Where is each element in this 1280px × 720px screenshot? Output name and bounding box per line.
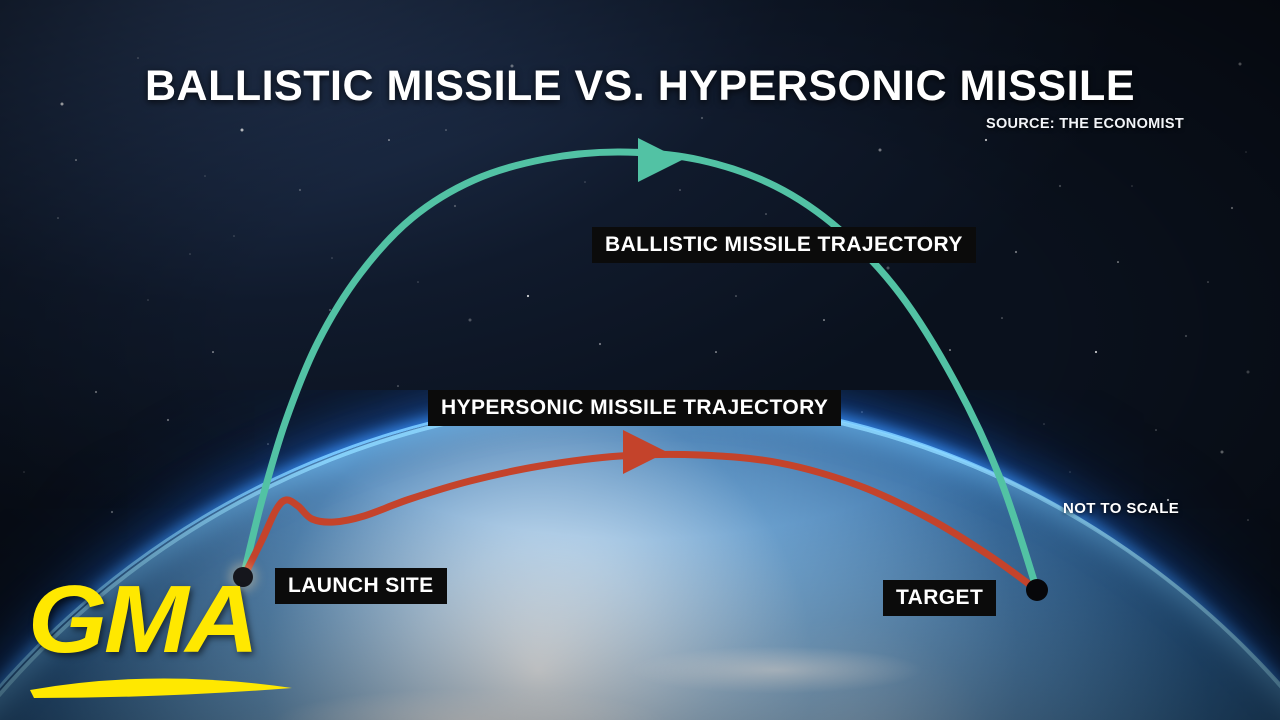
gma-logo-swoosh <box>24 572 324 702</box>
label-target: TARGET <box>883 580 996 616</box>
label-hypersonic-trajectory: HYPERSONIC MISSILE TRAJECTORY <box>428 390 841 426</box>
infographic-stage: BALLISTIC MISSILE VS. HYPERSONIC MISSILE… <box>0 0 1280 720</box>
gma-logo: GMA <box>24 572 324 702</box>
target-marker <box>1026 579 1048 601</box>
page-title: BALLISTIC MISSILE VS. HYPERSONIC MISSILE <box>0 62 1280 111</box>
source-credit: SOURCE: THE ECONOMIST <box>986 116 1184 132</box>
trajectory-arrowhead <box>623 430 667 474</box>
trajectory-arrowhead <box>638 138 682 182</box>
trajectory-line <box>243 152 1037 590</box>
not-to-scale-note: NOT TO SCALE <box>1063 500 1179 517</box>
label-ballistic-trajectory: BALLISTIC MISSILE TRAJECTORY <box>592 227 976 263</box>
